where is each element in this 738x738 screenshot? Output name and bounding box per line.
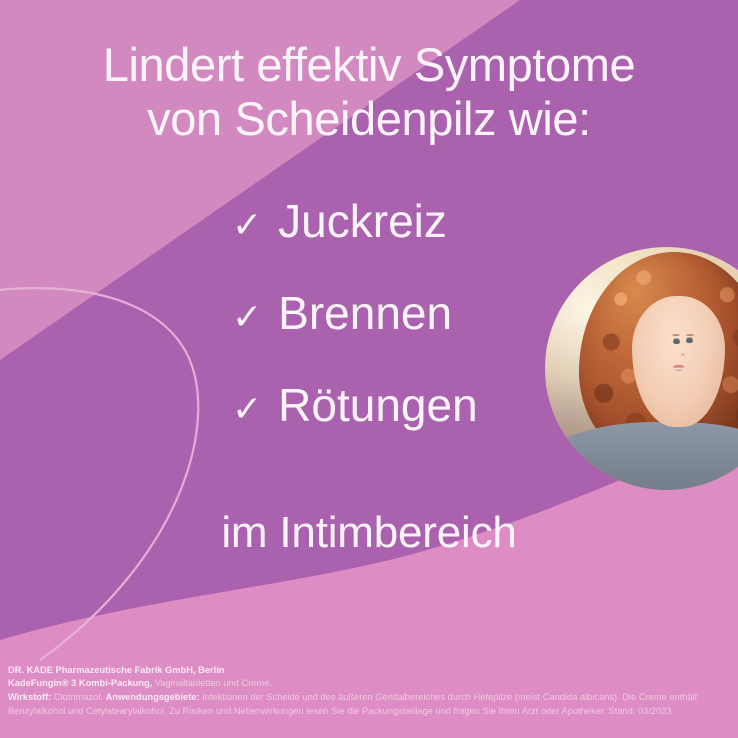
legal-company: DR. KADE Pharmazeutische Fabrik GmbH, Be… (8, 664, 734, 677)
portrait-eye-right (686, 339, 692, 343)
legal-indication-label: Anwendungsgebiete: (106, 692, 200, 702)
portrait-eyebrow-left (672, 334, 680, 336)
advertisement-canvas: Lindert effektiv Symptome von Scheidenpi… (0, 0, 738, 738)
checkmark-icon: ✓ (232, 299, 262, 335)
closing-line: im Intimbereich (0, 511, 738, 555)
legal-product-line: KadeFungin® 3 Kombi-Packung, Vaginaltabl… (8, 677, 734, 690)
list-item: ✓ Brennen (232, 290, 572, 336)
legal-ingredient-value: Clotrimazol. (51, 692, 105, 702)
symptom-label: Juckreiz (278, 198, 447, 244)
portrait-nose (681, 353, 685, 356)
legal-product-name: KadeFungin® 3 Kombi-Packung, (8, 678, 152, 688)
portrait-eyebrow-right (686, 334, 694, 336)
symptom-label: Rötungen (278, 382, 478, 428)
list-item: ✓ Rötungen (232, 382, 572, 428)
symptom-label: Brennen (278, 290, 452, 336)
portrait-mouth (673, 365, 685, 371)
list-item: ✓ Juckreiz (232, 198, 572, 244)
legal-disclaimer: DR. KADE Pharmazeutische Fabrik GmbH, Be… (8, 664, 734, 718)
portrait-eye-left (673, 340, 679, 344)
symptom-list: ✓ Juckreiz ✓ Brennen ✓ Rötungen (232, 198, 572, 474)
legal-ingredient-label: Wirkstoff: (8, 692, 51, 702)
legal-product-forms: Vaginaltabletten und Creme. (152, 678, 272, 688)
legal-body: Wirkstoff: Clotrimazol. Anwendungsgebiet… (8, 691, 734, 717)
checkmark-icon: ✓ (232, 207, 262, 243)
checkmark-icon: ✓ (232, 391, 262, 427)
portrait-photo (545, 247, 738, 490)
headline: Lindert effektiv Symptome von Scheidenpi… (0, 38, 738, 145)
